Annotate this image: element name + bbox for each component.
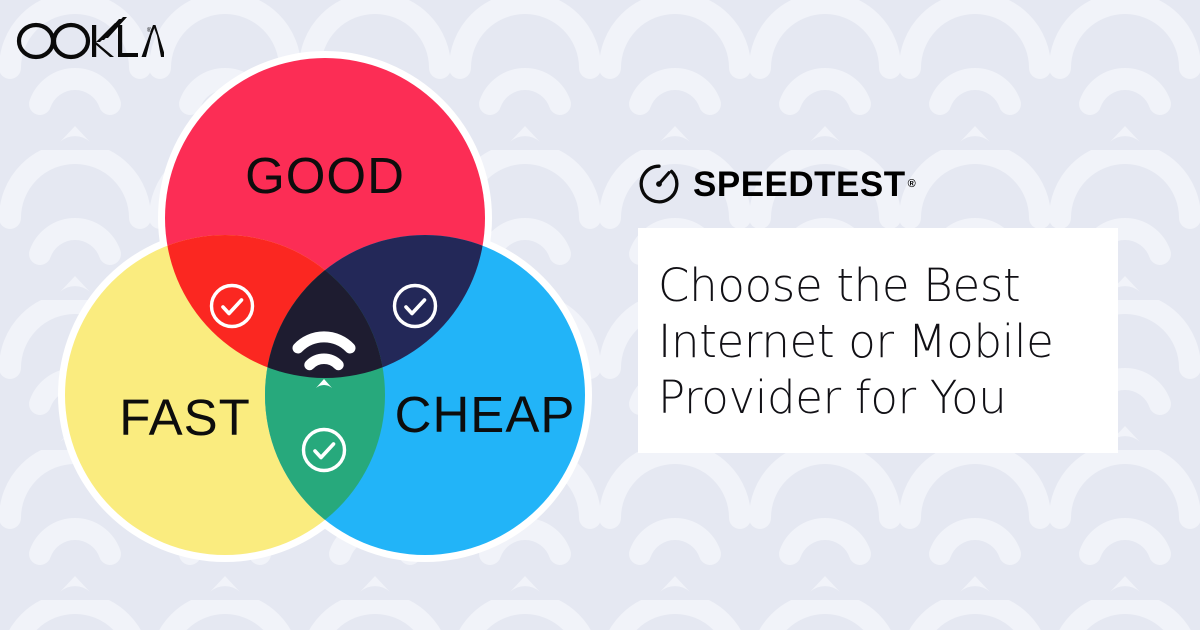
speedtest-wordmark: SPEEDTEST	[693, 167, 906, 202]
venn-label-fast: FAST	[119, 389, 251, 446]
speedtest-trademark: ®	[908, 178, 916, 190]
promo-banner: ®	[0, 0, 1200, 630]
ookla-trademark: ®	[147, 27, 152, 34]
speedometer-icon	[638, 163, 680, 205]
venn-label-cheap: CHEAP	[395, 386, 576, 443]
headline-line-3: Provider for You	[658, 370, 1118, 426]
venn-label-good: GOOD	[245, 147, 405, 204]
headline-line-2: Internet or Mobile	[658, 314, 1118, 370]
headline-card: Choose the Best Internet or Mobile Provi…	[638, 228, 1118, 453]
venn-diagram: GOOD FAST CHEAP	[40, 50, 620, 580]
ookla-logo[interactable]: ®	[14, 16, 164, 62]
promo-content: SPEEDTEST ® Choose the Best Internet or …	[638, 160, 1118, 453]
headline-line-1: Choose the Best	[658, 258, 1118, 314]
speedtest-logo[interactable]: SPEEDTEST ®	[638, 160, 1118, 208]
